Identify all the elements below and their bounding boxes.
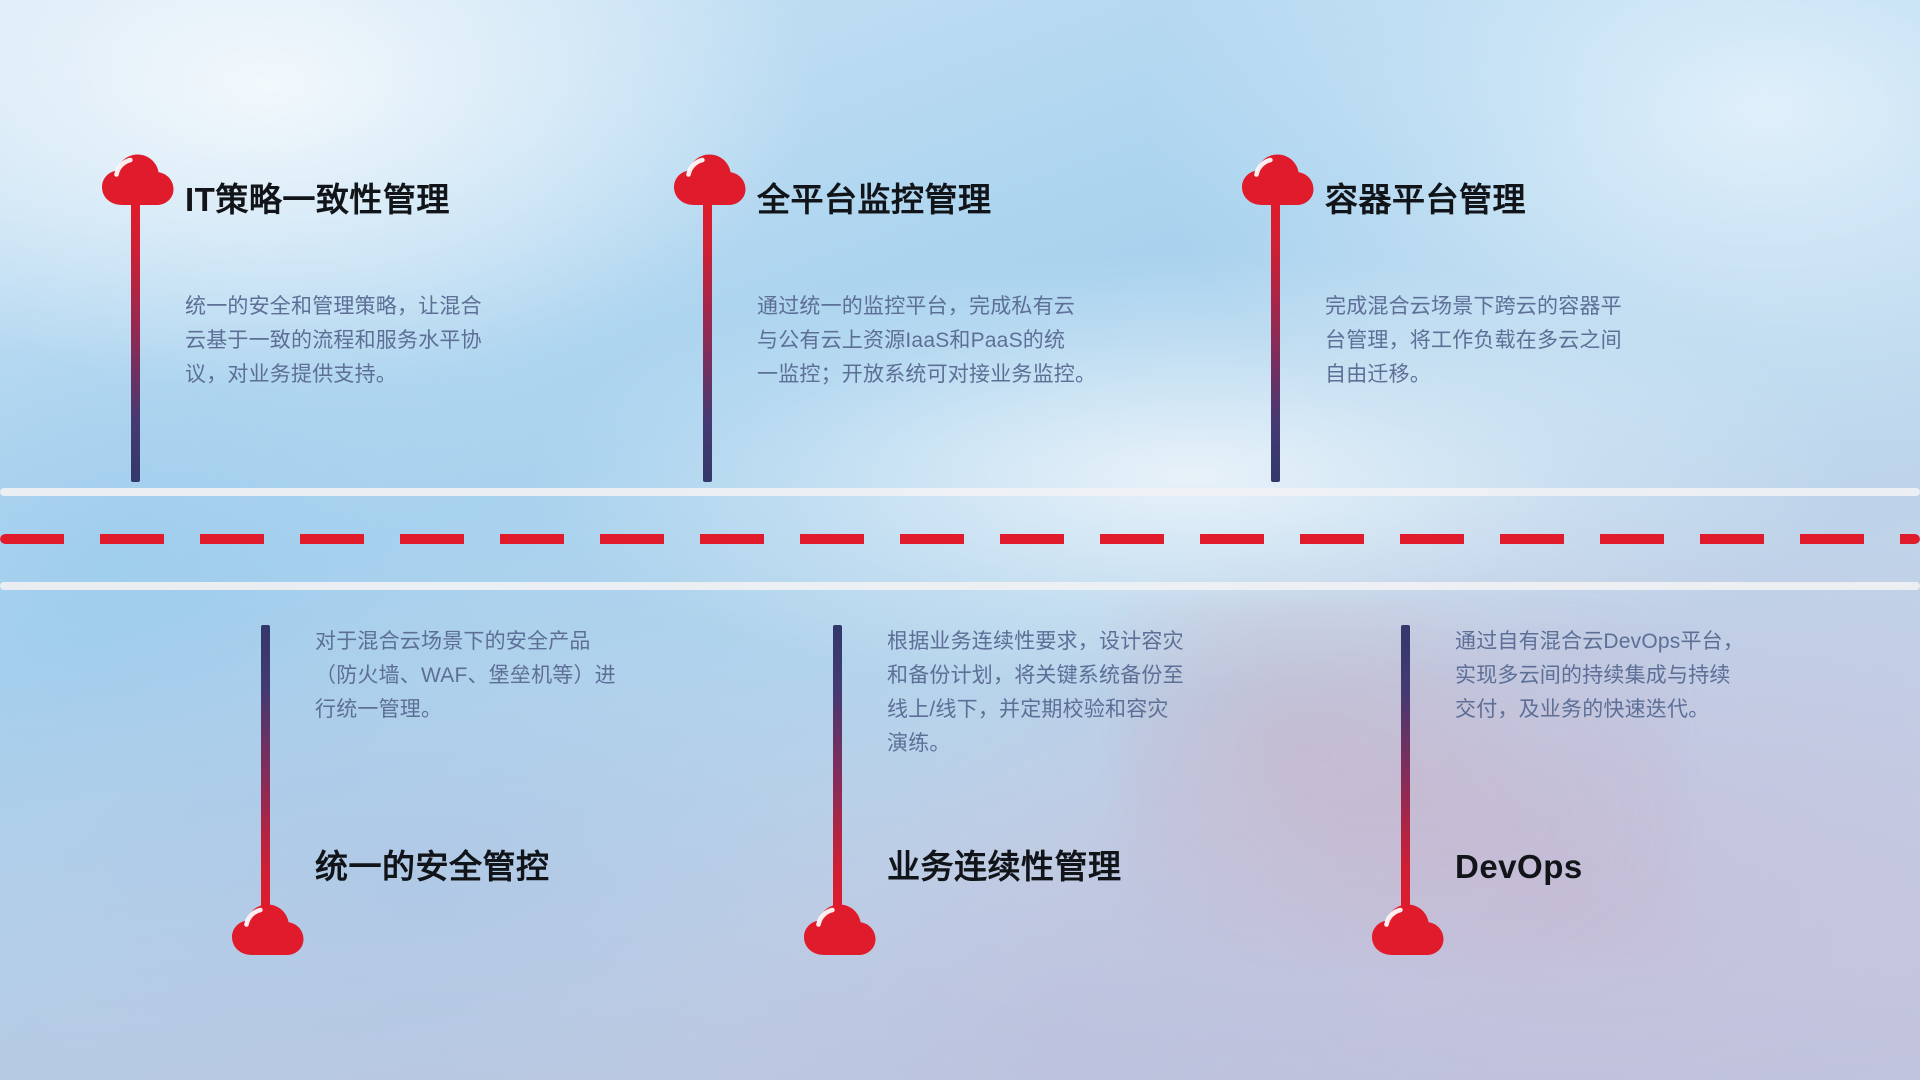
column-heading: IT策略一致性管理 <box>185 180 450 220</box>
column-body-paragraph: 通过统一的监控平台，完成私有云 与公有云上资源IaaS和PaaS的统 一监控；开… <box>757 290 1157 392</box>
divider-rule-top <box>0 488 1920 496</box>
column-heading: 容器平台管理 <box>1325 180 1526 220</box>
column-body-text: 统一的安全和管理策略，让混合 云基于一致的流程和服务水平协 议，对业务提供支持。 <box>185 290 585 392</box>
cloud-icon <box>1370 900 1446 960</box>
column-body-text: 对于混合云场景下的安全产品 （防火墙、WAF、堡垒机等）进 行统一管理。 <box>315 625 715 727</box>
column-body-paragraph: 完成混合云场景下跨云的容器平 台管理，将工作负载在多云之间 自由迁移。 <box>1325 290 1725 392</box>
cloud-icon <box>100 150 176 210</box>
section-divider <box>0 488 1920 590</box>
column-body-text: 通过自有混合云DevOps平台， 实现多云间的持续集成与持续 交付，及业务的快速… <box>1455 625 1855 727</box>
infographic-canvas: IT策略一致性管理 统一的安全和管理策略，让混合 云基于一致的流程和服务水平协 … <box>0 0 1920 1080</box>
connector-stem <box>1401 625 1410 915</box>
cloud-icon <box>230 900 306 960</box>
column-heading: 统一的安全管控 <box>315 847 550 887</box>
divider-rule-bottom <box>0 582 1920 590</box>
divider-dashed-line <box>0 534 1920 544</box>
connector-stem <box>703 202 712 482</box>
column-heading: DevOps <box>1455 847 1583 887</box>
cloud-icon <box>802 900 878 960</box>
column-body-text: 通过统一的监控平台，完成私有云 与公有云上资源IaaS和PaaS的统 一监控；开… <box>757 290 1157 392</box>
column-body-text: 根据业务连续性要求，设计容灾 和备份计划，将关键系统备份至 线上/线下，并定期校… <box>887 625 1287 761</box>
connector-stem <box>833 625 842 915</box>
connector-stem <box>1271 202 1280 482</box>
column-body-paragraph: 对于混合云场景下的安全产品 （防火墙、WAF、堡垒机等）进 行统一管理。 <box>315 625 715 727</box>
cloud-icon <box>672 150 748 210</box>
connector-stem <box>131 202 140 482</box>
cloud-icon <box>1240 150 1316 210</box>
connector-stem <box>261 625 270 915</box>
column-body-paragraph: 根据业务连续性要求，设计容灾 和备份计划，将关键系统备份至 线上/线下，并定期校… <box>887 625 1287 761</box>
column-body-text: 完成混合云场景下跨云的容器平 台管理，将工作负载在多云之间 自由迁移。 <box>1325 290 1725 392</box>
column-heading: 业务连续性管理 <box>887 847 1122 887</box>
column-heading: 全平台监控管理 <box>757 180 992 220</box>
column-body-paragraph: 通过自有混合云DevOps平台， 实现多云间的持续集成与持续 交付，及业务的快速… <box>1455 625 1855 727</box>
column-body-paragraph: 统一的安全和管理策略，让混合 云基于一致的流程和服务水平协 议，对业务提供支持。 <box>185 290 585 392</box>
